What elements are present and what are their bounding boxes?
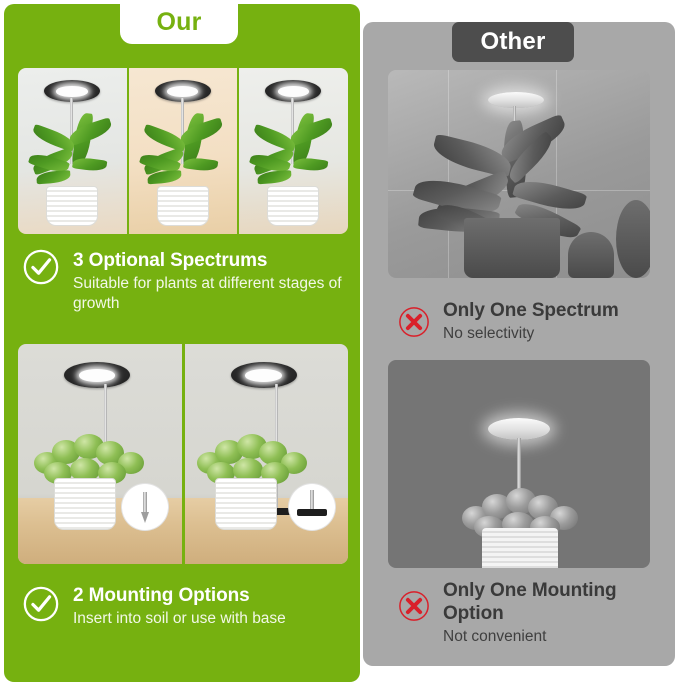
- feature-title: Only One Spectrum: [443, 299, 668, 322]
- our-feature-spectrums: 3 Optional Spectrums Suitable for plants…: [22, 248, 352, 314]
- ring-light-icon: [488, 92, 544, 108]
- check-circle-icon: [22, 248, 60, 286]
- ring-light-icon: [64, 362, 130, 388]
- bushy-plant: [32, 432, 150, 484]
- side-vessel: [616, 200, 650, 278]
- ring-light-icon: [488, 418, 550, 440]
- soil-spike-inset: [122, 484, 168, 530]
- our-feature-mounting: 2 Mounting Options Insert into soil or u…: [22, 583, 352, 629]
- feature-subtitle: Not convenient: [443, 627, 668, 647]
- mounting-photo-base-stand: [185, 344, 349, 564]
- plant-pot: [54, 478, 116, 530]
- mounting-photo-soil-spike: [18, 344, 182, 564]
- other-badge: Other: [452, 22, 574, 62]
- spectrum-photo-neutral: [239, 68, 348, 234]
- plant-pot: [215, 478, 277, 530]
- plant-pot: [267, 186, 319, 226]
- spectrum-photo-warm: [129, 68, 238, 234]
- plant-pot: [46, 186, 98, 226]
- other-mounting-image-card: [388, 360, 650, 568]
- other-spectrum-image-card: [388, 70, 650, 278]
- our-mounting-image-card: [18, 344, 348, 564]
- plant-pot: [157, 186, 209, 226]
- bushy-plant: [195, 432, 313, 484]
- our-badge-label: Our: [156, 8, 201, 37]
- feature-subtitle: Suitable for plants at different stages …: [73, 274, 352, 314]
- plant-pot: [482, 528, 558, 568]
- plant-pot: [464, 218, 560, 278]
- feature-subtitle: Insert into soil or use with base: [73, 609, 352, 629]
- comparison-infographic: Our: [0, 0, 679, 690]
- base-stand-inset: [289, 484, 335, 530]
- spectrum-photo-cool: [18, 68, 127, 234]
- our-badge: Our: [120, 0, 238, 44]
- other-feature-spectrum: Only One Spectrum No selectivity: [398, 298, 668, 344]
- other-feature-mounting: Only One Mounting Option Not convenient: [398, 578, 668, 647]
- x-circle-icon: [398, 306, 430, 338]
- feature-title: Only One Mounting Option: [443, 579, 653, 625]
- check-circle-icon: [22, 585, 60, 623]
- ring-light-icon: [231, 362, 297, 388]
- feature-subtitle: No selectivity: [443, 324, 668, 344]
- x-circle-icon: [398, 590, 430, 622]
- other-badge-label: Other: [480, 28, 545, 56]
- feature-title: 3 Optional Spectrums: [73, 249, 352, 272]
- side-vessel: [568, 232, 614, 278]
- feature-title: 2 Mounting Options: [73, 584, 352, 607]
- our-spectrum-image-card: [18, 68, 348, 234]
